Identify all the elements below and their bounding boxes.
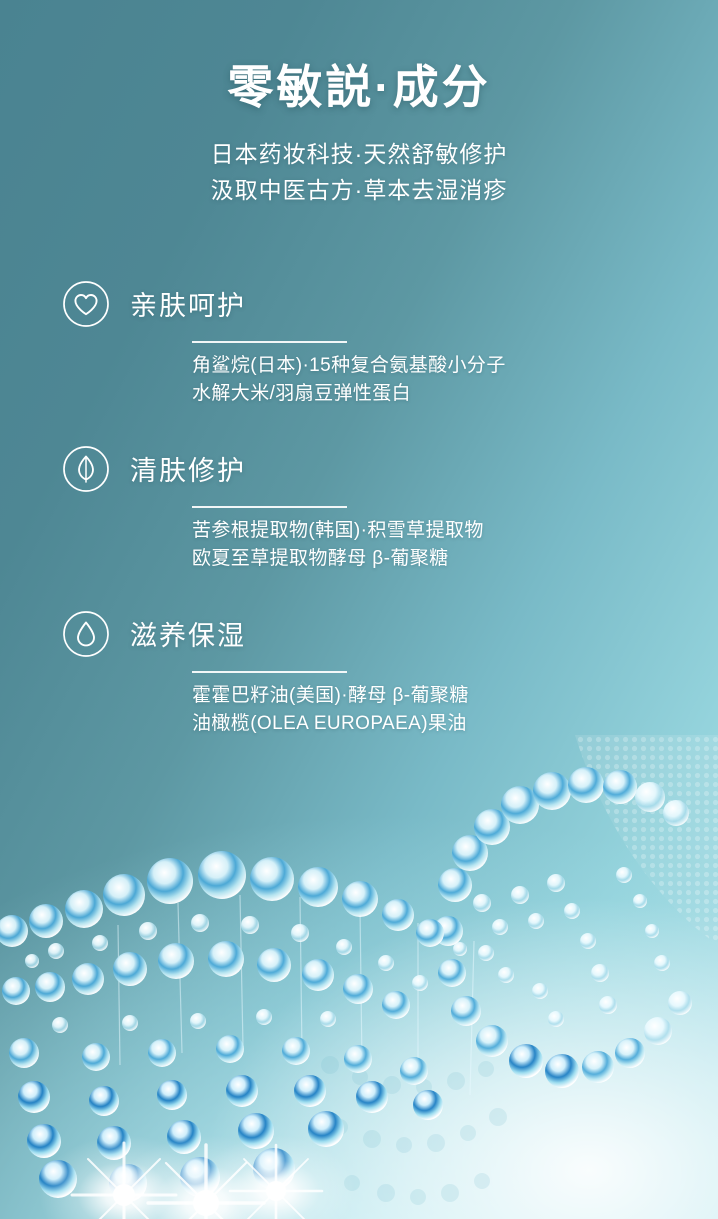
feature-body: 角鲨烷(日本)·15种复合氨基酸小分子 水解大米/羽扇豆弹性蛋白 <box>192 352 718 407</box>
feature-item: 滋养保湿 霍霍巴籽油(美国)·酵母 β-葡聚糖 油橄榄(OLEA EUROPAE… <box>0 610 718 737</box>
feature-title: 清肤修护 <box>130 447 246 495</box>
feature-body-line-1: 角鲨烷(日本)·15种复合氨基酸小分子 <box>192 352 718 380</box>
feature-header: 亲肤呵护 <box>62 280 718 332</box>
subtitle-line-1: 日本药妆科技·天然舒敏修护 <box>0 137 718 173</box>
feature-body-line-1: 霍霍巴籽油(美国)·酵母 β-葡聚糖 <box>192 682 718 710</box>
feature-header: 清肤修护 <box>62 445 718 497</box>
subtitle: 日本药妆科技·天然舒敏修护 汲取中医古方·草本去湿消疹 <box>0 137 718 208</box>
feature-title: 滋养保湿 <box>130 612 246 660</box>
header: 零敏説·成分 日本药妆科技·天然舒敏修护 汲取中医古方·草本去湿消疹 <box>0 0 718 208</box>
feature-item: 清肤修护 苦参根提取物(韩国)·积雪草提取物 欧夏至草提取物酵母 β-葡聚糖 <box>0 445 718 572</box>
leaf-in-circle-icon <box>62 445 110 493</box>
feature-divider <box>192 506 347 508</box>
feature-list: 亲肤呵护 角鲨烷(日本)·15种复合氨基酸小分子 水解大米/羽扇豆弹性蛋白 清肤… <box>0 280 718 775</box>
feature-body-line-2: 油橄榄(OLEA EUROPAEA)果油 <box>192 710 718 738</box>
feature-body-line-1: 苦参根提取物(韩国)·积雪草提取物 <box>192 517 718 545</box>
dna-double-helix-bubbles-illustration <box>0 735 718 1219</box>
feature-title: 亲肤呵护 <box>130 282 246 330</box>
water-drop-in-circle-icon <box>62 610 110 658</box>
feature-body-line-2: 欧夏至草提取物酵母 β-葡聚糖 <box>192 545 718 573</box>
feature-body: 霍霍巴籽油(美国)·酵母 β-葡聚糖 油橄榄(OLEA EUROPAEA)果油 <box>192 682 718 737</box>
page-title: 零敏説·成分 <box>0 60 718 115</box>
poster-root: 零敏説·成分 日本药妆科技·天然舒敏修护 汲取中医古方·草本去湿消疹 亲肤呵护 … <box>0 0 718 1219</box>
feature-divider <box>192 671 347 673</box>
feature-item: 亲肤呵护 角鲨烷(日本)·15种复合氨基酸小分子 水解大米/羽扇豆弹性蛋白 <box>0 280 718 407</box>
feature-header: 滋养保湿 <box>62 610 718 662</box>
feature-body-line-2: 水解大米/羽扇豆弹性蛋白 <box>192 380 718 408</box>
feature-body: 苦参根提取物(韩国)·积雪草提取物 欧夏至草提取物酵母 β-葡聚糖 <box>192 517 718 572</box>
subtitle-line-2: 汲取中医古方·草本去湿消疹 <box>0 173 718 209</box>
heart-in-circle-icon <box>62 280 110 328</box>
feature-divider <box>192 341 347 343</box>
